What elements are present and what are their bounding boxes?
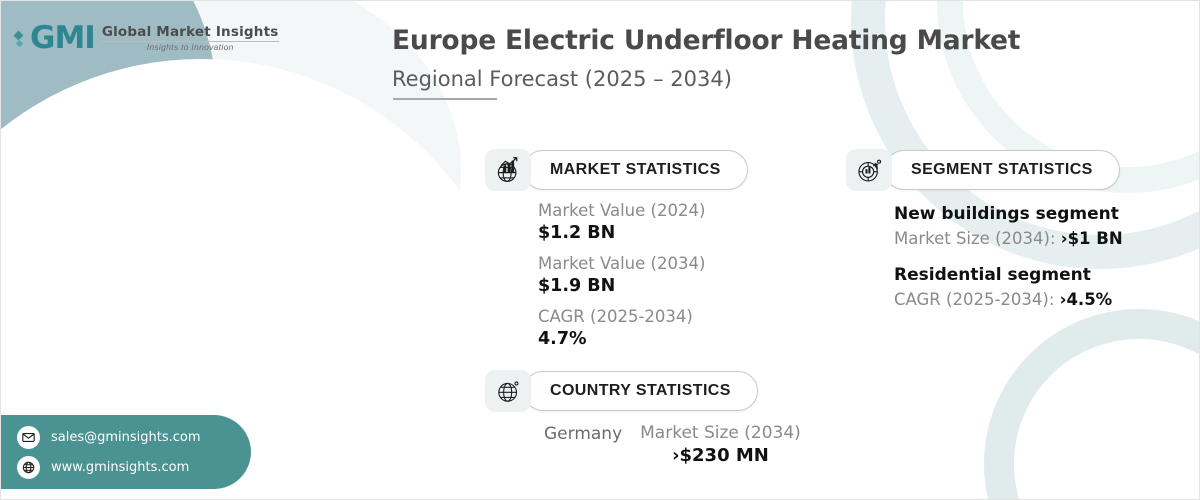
country-name: Germany: [544, 423, 622, 444]
contact-website-row[interactable]: www.gminsights.com: [17, 456, 251, 479]
segment-metric-label: Market Size (2034):: [894, 229, 1056, 248]
page-subtitle: Regional Forecast (2025 – 2034): [392, 67, 732, 91]
contact-website: www.gminsights.com: [51, 460, 189, 475]
segment-name: Residential segment: [894, 264, 1123, 288]
market-statistics-label: MARKET STATISTICS: [523, 150, 748, 190]
country-statistics-pill[interactable]: COUNTRY STATISTICS: [485, 370, 758, 412]
segment-metric-row: Market Size (2034): ›$1 BN: [894, 227, 1123, 250]
contact-banner: sales@gminsights.com www.gminsights.com: [0, 415, 251, 489]
market-row-value: $1.9 BN: [538, 275, 705, 299]
infographic-canvas: GMI Global Market Insights Insights to I…: [0, 0, 1200, 500]
market-row-label: Market Value (2024): [538, 200, 705, 222]
country-statistics-body: Germany Market Size (2034) ›$230 MN: [544, 423, 801, 466]
contact-email-row[interactable]: sales@gminsights.com: [17, 426, 251, 449]
segment-metric-value: ›4.5%: [1060, 290, 1113, 309]
segment-statistics-pill[interactable]: SEGMENT STATISTICS: [846, 149, 1120, 191]
market-row-label: Market Value (2034): [538, 253, 705, 275]
logo-company-name: Global Market Insights: [102, 25, 279, 39]
market-row-value: 4.7%: [538, 328, 705, 352]
market-row-value: $1.2 BN: [538, 222, 705, 246]
pie-chart-target-icon: [846, 149, 892, 191]
gmi-diamond-icon: [15, 32, 22, 46]
country-metric-value: ›$230 MN: [640, 445, 801, 466]
country-metric-label: Market Size (2034): [640, 423, 801, 443]
segment-metric-value: ›$1 BN: [1061, 229, 1123, 248]
envelope-icon: [17, 426, 40, 449]
segment-statistics-body: New buildings segment Market Size (2034)…: [894, 203, 1123, 325]
globe-icon: [17, 456, 40, 479]
globe-icon: [485, 370, 531, 412]
background-arc-bottom-right: [984, 309, 1200, 500]
market-statistics-pill[interactable]: MARKET STATISTICS: [485, 149, 748, 191]
brand-logo[interactable]: GMI Global Market Insights Insights to I…: [15, 23, 279, 54]
market-statistics-body: Market Value (2024) $1.2 BN Market Value…: [538, 200, 705, 359]
country-statistics-label: COUNTRY STATISTICS: [523, 371, 758, 411]
logo-abbr: GMI: [30, 23, 95, 54]
segment-statistics-label: SEGMENT STATISTICS: [884, 150, 1120, 190]
logo-tagline: Insights to Innovation: [102, 43, 279, 52]
segment-metric-row: CAGR (2025-2034): ›4.5%: [894, 288, 1123, 311]
subtitle-underline: [393, 98, 497, 100]
page-title: Europe Electric Underfloor Heating Marke…: [392, 25, 1020, 56]
market-row-label: CAGR (2025-2034): [538, 306, 705, 328]
globe-growth-chart-icon: [485, 149, 531, 191]
segment-name: New buildings segment: [894, 203, 1123, 227]
contact-email: sales@gminsights.com: [51, 430, 201, 445]
country-row: Germany Market Size (2034) ›$230 MN: [544, 423, 801, 466]
segment-metric-label: CAGR (2025-2034):: [894, 290, 1054, 309]
